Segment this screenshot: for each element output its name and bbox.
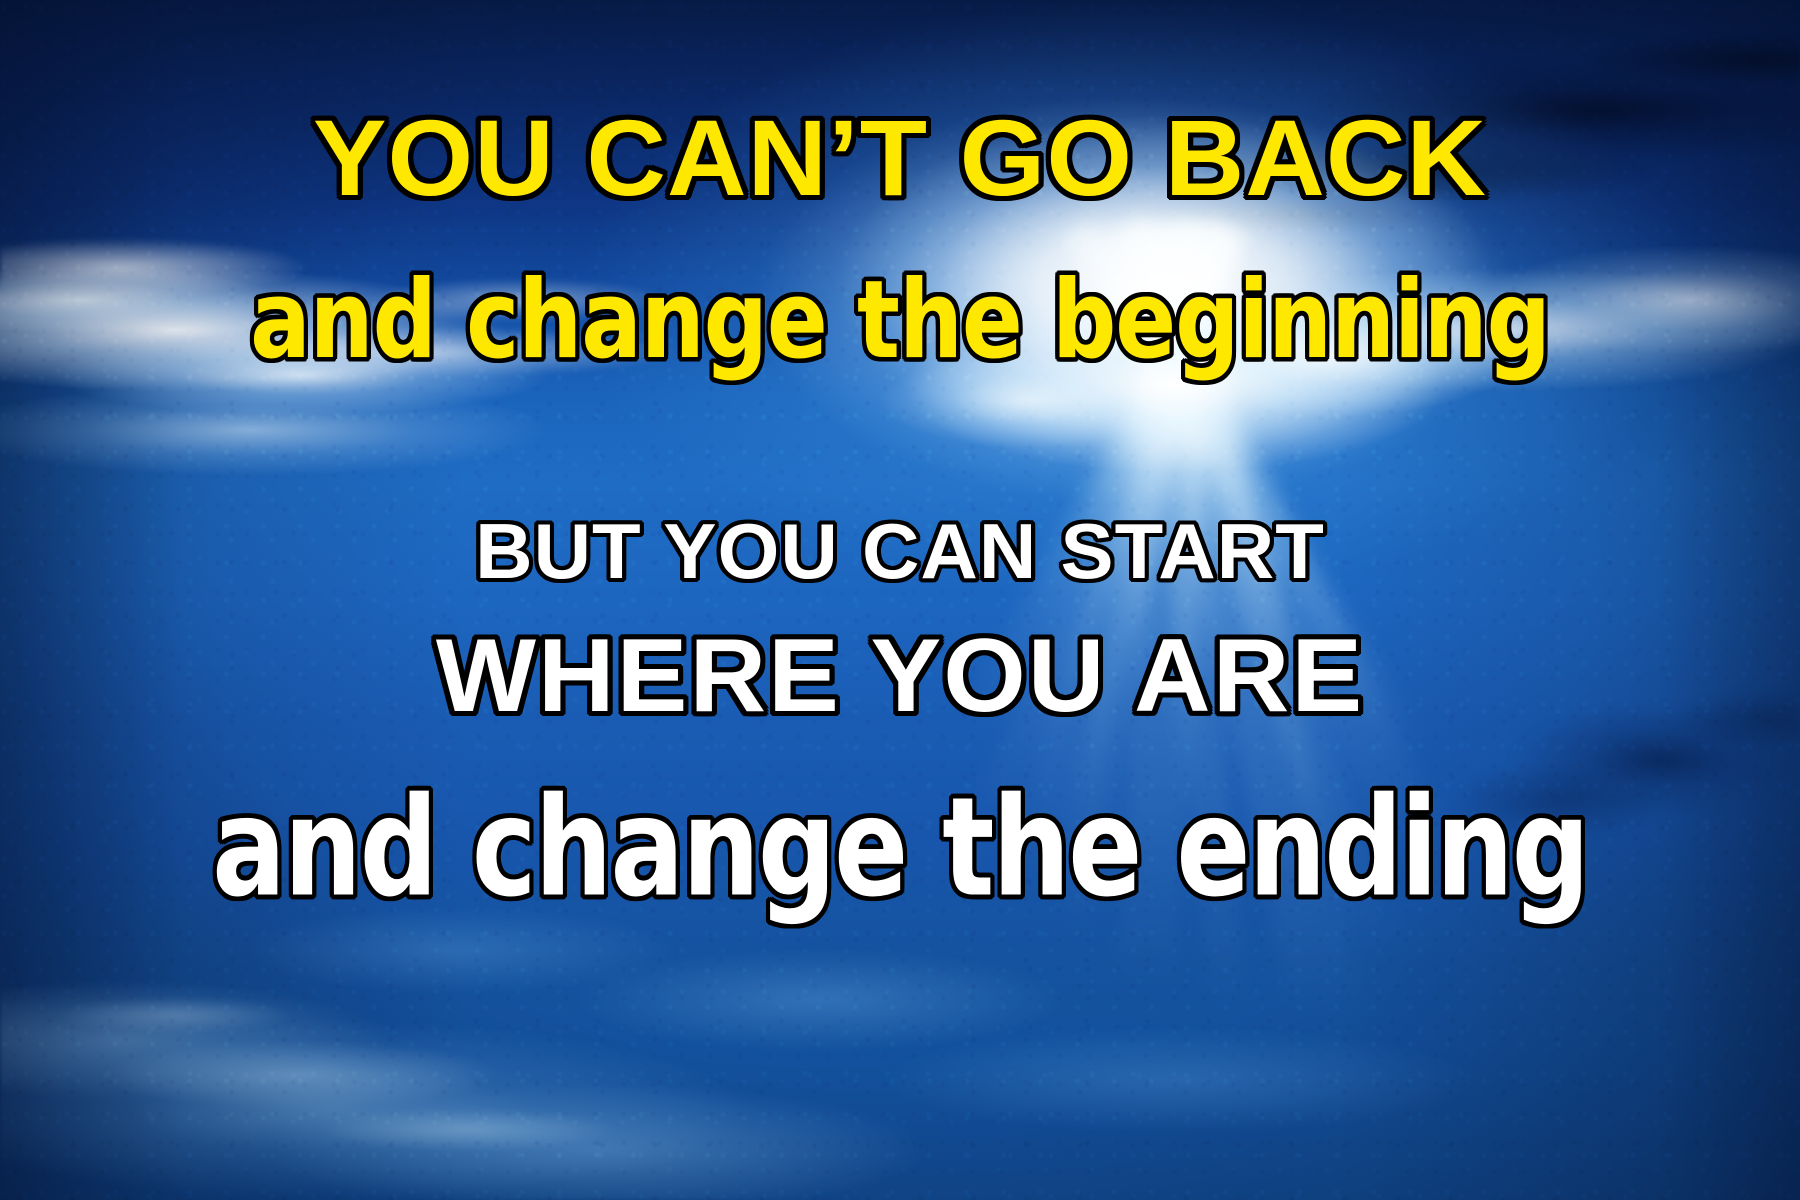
quote-line-5: and change the ending <box>0 779 1800 916</box>
quote-line-2: and change the beginning <box>0 266 1800 374</box>
quote-line-4: WHERE YOU ARE <box>0 624 1800 728</box>
quote-poster: YOU CAN’T GO BACK and change the beginni… <box>0 0 1800 1200</box>
quote-line-3: BUT YOU CAN START <box>0 512 1800 590</box>
quote-text-block: YOU CAN’T GO BACK and change the beginni… <box>0 0 1800 1200</box>
quote-line-1: YOU CAN’T GO BACK <box>0 104 1800 212</box>
